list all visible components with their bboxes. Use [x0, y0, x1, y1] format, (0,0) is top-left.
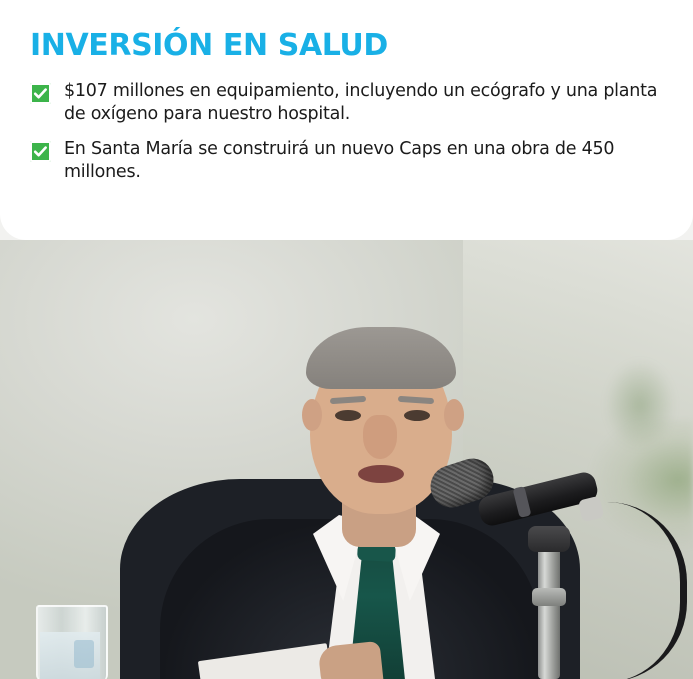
- microphone-stand-joint: [528, 526, 570, 552]
- nose: [363, 415, 397, 459]
- mouth: [358, 465, 404, 483]
- list-item-label: En Santa María se construirá un nuevo Ca…: [64, 138, 663, 185]
- microphone-stand-clamp: [532, 588, 566, 606]
- water-glass-reflection: [74, 640, 94, 668]
- press-conference-photo: [0, 240, 693, 679]
- bullet-list: $107 millones en equipamiento, incluyend…: [30, 80, 663, 185]
- hair: [306, 327, 456, 389]
- list-item: $107 millones en equipamiento, incluyend…: [30, 80, 663, 127]
- ear-right: [444, 399, 464, 431]
- check-icon: [30, 83, 51, 104]
- page-title: INVERSIÓN EN SALUD: [30, 30, 663, 62]
- list-item: En Santa María se construirá un nuevo Ca…: [30, 138, 663, 185]
- info-card: INVERSIÓN EN SALUD $107 millones en equi…: [0, 0, 693, 240]
- eye-left: [335, 410, 361, 421]
- ear-left: [302, 399, 322, 431]
- list-item-label: $107 millones en equipamiento, incluyend…: [64, 80, 663, 127]
- check-icon: [30, 141, 51, 162]
- eye-right: [404, 410, 430, 421]
